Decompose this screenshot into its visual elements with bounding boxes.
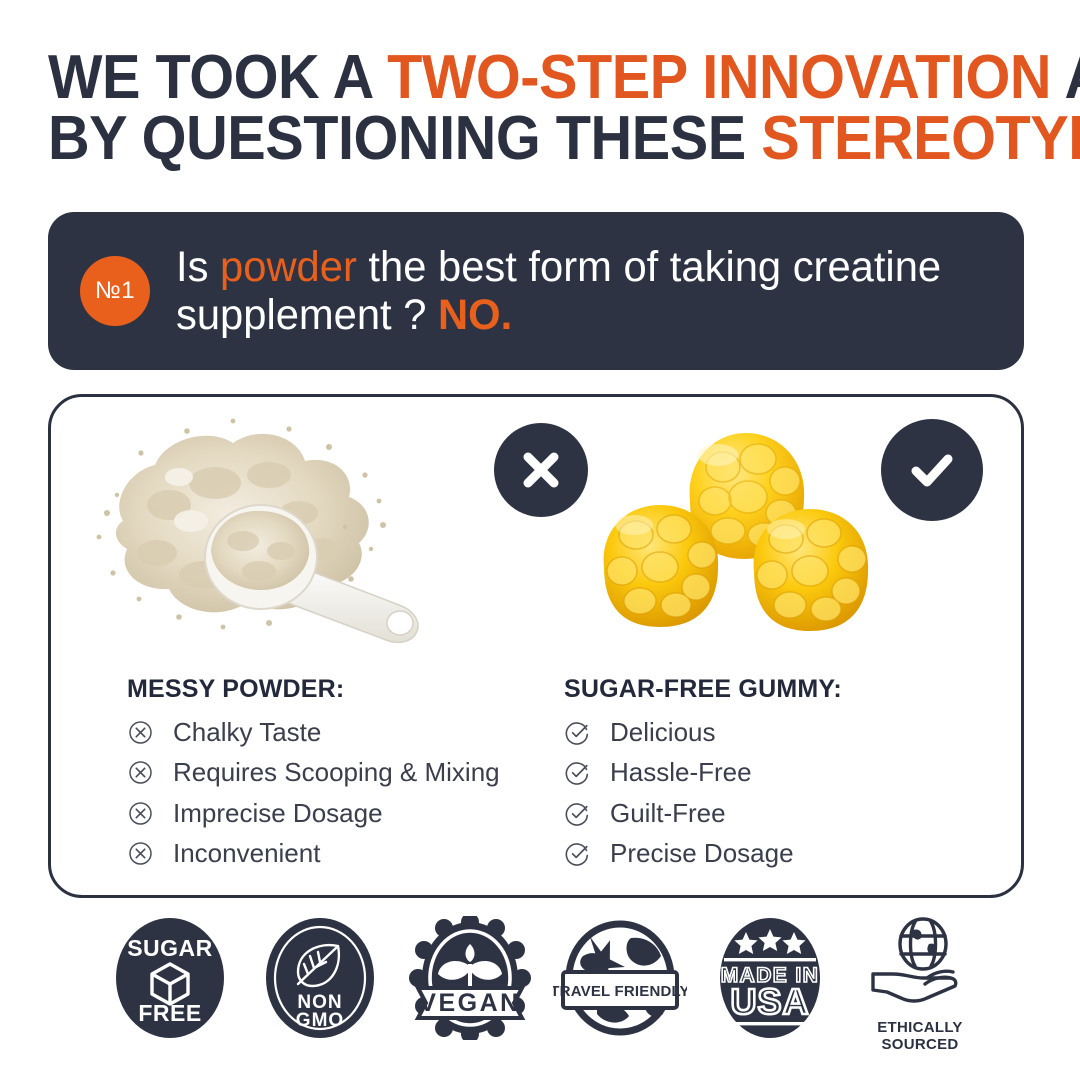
powder-art-area — [51, 397, 536, 665]
plant-rosette-icon — [409, 916, 531, 1040]
headline-accent: STEREOTYPES — [761, 104, 1080, 173]
circle-check-icon — [564, 840, 590, 866]
headline-line-1: WE TOOK A TWO-STEP INNOVATION APPROACH — [48, 48, 969, 109]
hand-globe-icon — [873, 919, 956, 1001]
badge-non-gmo: NON GMO — [260, 916, 380, 1040]
gummy-list-title: SUGAR-FREE GUMMY: — [564, 675, 1011, 704]
badge-made-in-usa: MADE IN USA — [710, 916, 830, 1040]
certification-badge-row: SUGAR FREE NON — [110, 916, 980, 1066]
circle-check-icon — [564, 760, 590, 786]
headline-text: APPROACH — [1051, 43, 1080, 112]
list-item: Delicious — [564, 716, 1011, 749]
comparison-column-powder: MESSY POWDER: Chalky Taste — [51, 397, 536, 895]
gummy-art-area — [536, 397, 1021, 665]
badge-non-gmo-line2: GMO — [296, 1010, 344, 1031]
list-item-label: Requires Scooping & Mixing — [173, 756, 500, 789]
badge-vegan: VEGAN — [410, 916, 530, 1040]
list-item: Inconvenient — [127, 837, 526, 870]
headline-text: BY QUESTIONING THESE — [48, 104, 761, 173]
list-item-label: Chalky Taste — [173, 716, 321, 749]
list-item-label: Imprecise Dosage — [173, 797, 383, 830]
circle-cross-icon — [127, 760, 153, 786]
list-item-label: Inconvenient — [173, 837, 320, 870]
caption-line-1: ETHICALLY — [877, 1020, 963, 1037]
check-icon — [881, 419, 983, 521]
list-item-label: Hassle-Free — [610, 756, 752, 789]
badge-sugar-free-line2: FREE — [138, 1000, 201, 1026]
list-item-label: Precise Dosage — [610, 837, 794, 870]
comparison-card: MESSY POWDER: Chalky Taste — [48, 394, 1024, 898]
headline-text: WE TOOK A — [48, 43, 387, 112]
circle-cross-icon — [127, 840, 153, 866]
comparison-column-gummy: SUGAR-FREE GUMMY: Delicious — [536, 397, 1021, 895]
badge-travel-friendly: TRAVEL FRIENDLY — [560, 916, 680, 1040]
circle-cross-icon — [127, 800, 153, 826]
badge-sugar-free: SUGAR FREE — [110, 916, 230, 1040]
circle-check-icon — [564, 720, 590, 746]
headline-line-2: BY QUESTIONING THESE STEREOTYPES — [48, 109, 969, 170]
badge-ethically-sourced: ETHICALLY SOURCED — [860, 916, 980, 1054]
question-keyword: powder — [220, 243, 357, 291]
powder-feature-list: MESSY POWDER: Chalky Taste — [127, 675, 526, 877]
powder-list-title: MESSY POWDER: — [127, 675, 526, 704]
circle-cross-icon — [127, 720, 153, 746]
list-item: Chalky Taste — [127, 716, 526, 749]
gummy-feature-list: SUGAR-FREE GUMMY: Delicious — [564, 675, 1011, 877]
gummy-image — [578, 405, 908, 660]
circle-check-icon — [564, 800, 590, 826]
question-text: Is powder the best form of taking creati… — [176, 243, 999, 339]
list-item: Guilt-Free — [564, 797, 1011, 830]
question-answer: NO. — [438, 291, 512, 339]
protein-powder-image — [83, 409, 463, 659]
badge-travel-friendly-label: TRAVEL FRIENDLY — [553, 983, 687, 1000]
question-banner: №1 Is powder the best form of taking cre… — [48, 212, 1024, 370]
caption-line-2: SOURCED — [877, 1037, 963, 1054]
infographic-page: WE TOOK A TWO-STEP INNOVATION APPROACH B… — [0, 0, 1080, 1080]
list-item: Requires Scooping & Mixing — [127, 756, 526, 789]
page-headline: WE TOOK A TWO-STEP INNOVATION APPROACH B… — [48, 48, 969, 170]
list-item-label: Guilt-Free — [610, 797, 726, 830]
badge-made-in-usa-line2: USA — [730, 981, 809, 1022]
list-item: Precise Dosage — [564, 837, 1011, 870]
list-item: Hassle-Free — [564, 756, 1011, 789]
badge-ethically-sourced-caption: ETHICALLY SOURCED — [877, 1020, 963, 1054]
question-text-pre: Is — [176, 243, 220, 291]
list-item-label: Delicious — [610, 716, 716, 749]
headline-accent: TWO-STEP INNOVATION — [387, 43, 1051, 112]
list-item: Imprecise Dosage — [127, 797, 526, 830]
badge-sugar-free-line1: SUGAR — [127, 935, 213, 961]
question-number-badge: №1 — [80, 256, 150, 326]
badge-vegan-label: VEGAN — [419, 989, 520, 1017]
question-number-label: №1 — [95, 277, 135, 305]
